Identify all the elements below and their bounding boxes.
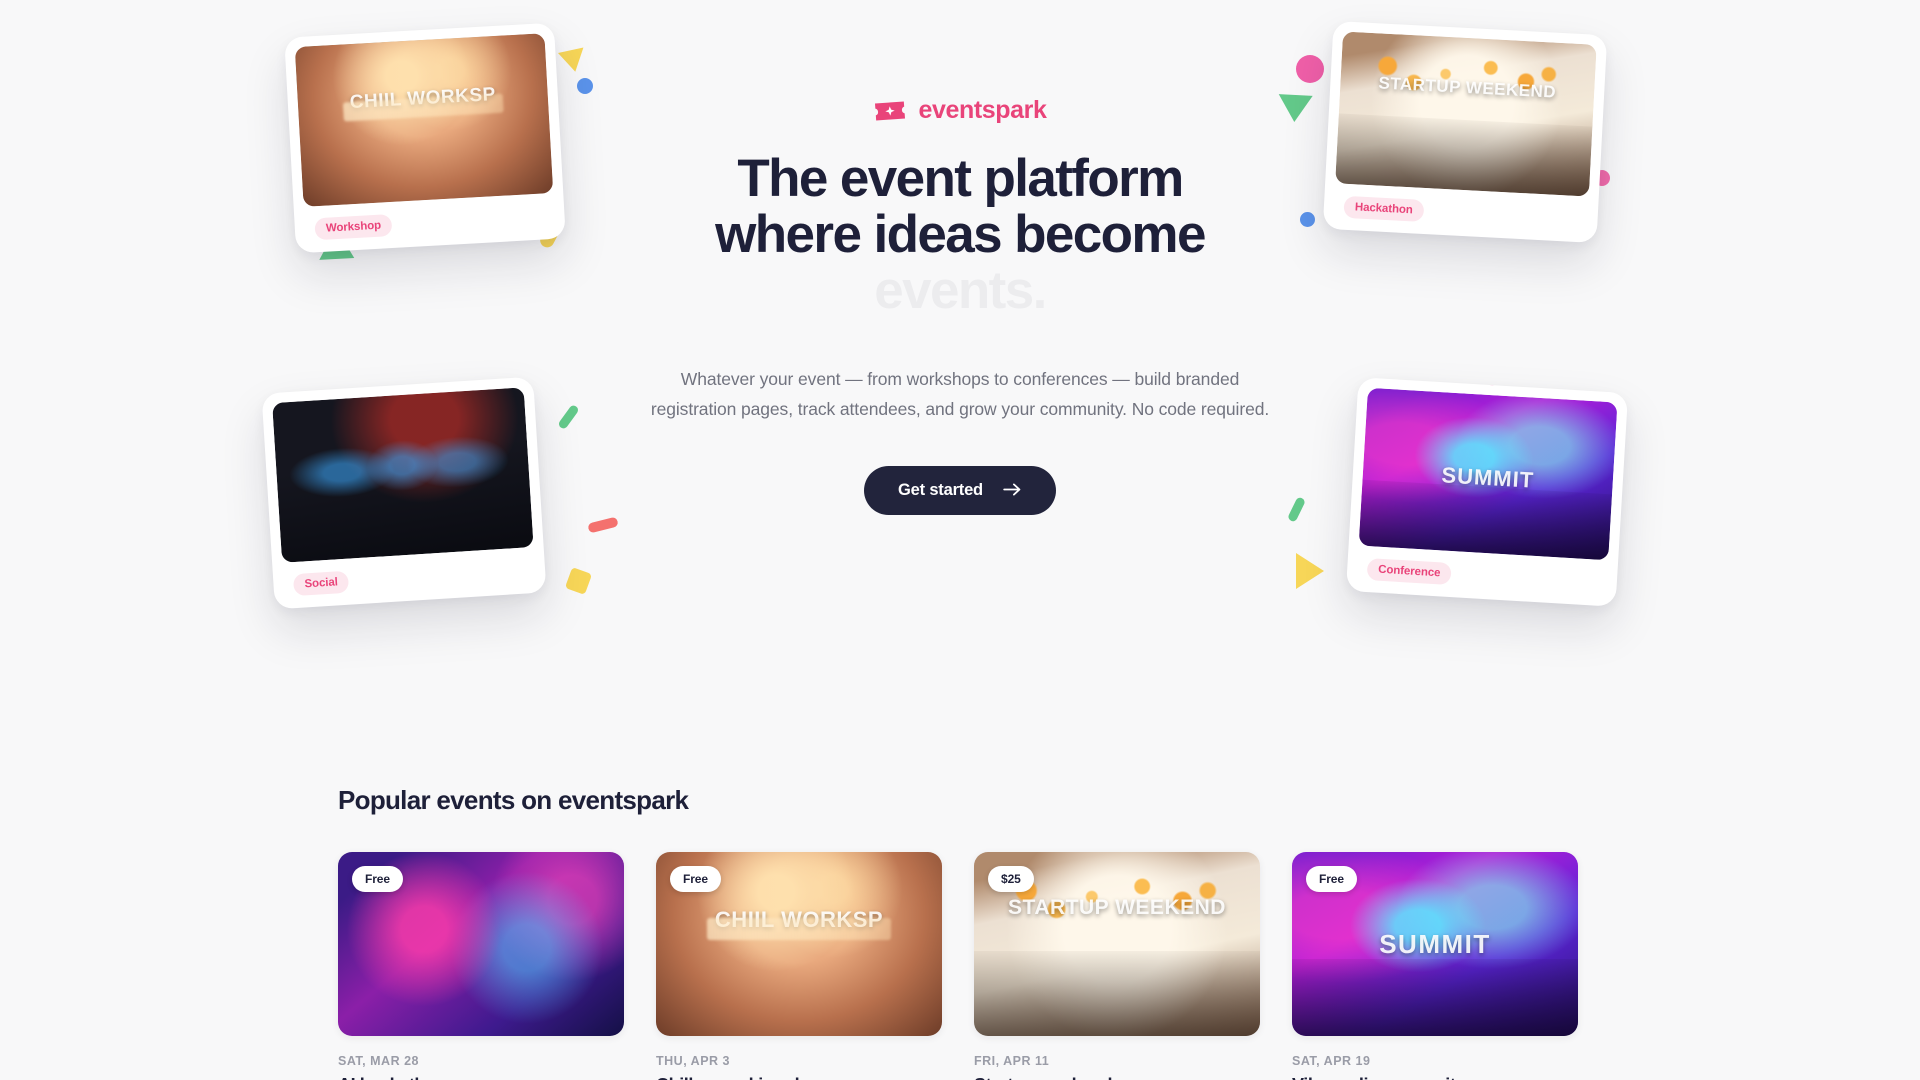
headline-line-2: where ideas become <box>715 205 1205 264</box>
photo-word: STARTUP WEEKEND <box>974 896 1260 920</box>
event-card[interactable]: Free SAT, MAR 28 AI hackathon <box>338 852 624 1080</box>
photo-word-conference: SUMMIT <box>1362 457 1613 498</box>
event-title: AI hackathon <box>338 1075 624 1080</box>
tag-social: Social <box>293 571 350 596</box>
tag-conference: Conference <box>1367 558 1452 585</box>
confetti-circle-blue <box>577 78 593 94</box>
confetti-triangle-yellow-2 <box>1296 553 1324 589</box>
event-title: Startup weekend <box>974 1075 1260 1080</box>
photo-word-hackathon: STARTUP WEEKEND <box>1340 71 1595 103</box>
event-title: Chill coworking day <box>656 1075 942 1080</box>
chill-workspace-photo: CHIIL WORKSP <box>295 33 554 207</box>
price-badge: $25 <box>988 866 1034 892</box>
confetti-bar-coral <box>587 517 619 534</box>
price-badge: Free <box>670 866 721 892</box>
event-card-list: Free SAT, MAR 28 AI hackathon Free CHIIL… <box>338 852 1582 1080</box>
event-date: SAT, MAR 28 <box>338 1054 624 1068</box>
landing-page: CHIIL WORKSP Workshop STARTUP WEEKEND Ha… <box>0 0 1920 1080</box>
chill-workspace-photo: Free CHIIL WORKSP <box>656 852 942 1036</box>
floating-card-social[interactable]: Social <box>261 377 546 610</box>
price-badge: Free <box>352 866 403 892</box>
get-started-label: Get started <box>898 481 983 500</box>
event-card[interactable]: Free CHIIL WORKSP THU, APR 3 Chill cowor… <box>656 852 942 1080</box>
popular-events-section: Popular events on eventspark Free SAT, M… <box>0 720 1920 1080</box>
floating-card-hackathon[interactable]: STARTUP WEEKEND Hackathon <box>1323 21 1608 243</box>
event-card[interactable]: Free SUMMIT SAT, APR 19 Vibe coding summ… <box>1292 852 1578 1080</box>
floating-card-conference[interactable]: SUMMIT Conference <box>1346 377 1628 607</box>
neon-summit-stage-photo: SUMMIT <box>1359 388 1618 561</box>
page-title: The event platform where ideas become ev… <box>640 151 1280 319</box>
confetti-bar-yellow-2 <box>565 567 592 595</box>
headline-line-1: The event platform <box>737 149 1182 208</box>
event-title: Vibe coding summit <box>1292 1075 1578 1080</box>
event-date: THU, APR 3 <box>656 1054 942 1068</box>
section-title: Popular events on eventspark <box>338 785 1582 816</box>
brand-name: eventspark <box>918 96 1046 125</box>
startup-weekend-photo: $25 STARTUP WEEKEND <box>974 852 1260 1036</box>
event-card[interactable]: $25 STARTUP WEEKEND FRI, APR 11 Startup … <box>974 852 1260 1080</box>
event-date: SAT, APR 19 <box>1292 1054 1578 1068</box>
confetti-triangle-green-2 <box>1277 94 1312 123</box>
arrow-right-icon <box>1003 482 1022 499</box>
floating-card-workshop[interactable]: CHIIL WORKSP Workshop <box>284 23 566 254</box>
ai-network-photo: Free <box>338 852 624 1036</box>
get-started-button[interactable]: Get started <box>864 466 1056 515</box>
hero-content: eventspark The event platform where idea… <box>640 96 1280 515</box>
neon-lan-room-photo <box>272 387 534 563</box>
confetti-triangle-yellow <box>558 48 588 75</box>
neon-summit-stage-photo: Free SUMMIT <box>1292 852 1578 1036</box>
event-date: FRI, APR 11 <box>974 1054 1260 1068</box>
photo-word: SUMMIT <box>1292 929 1578 960</box>
photo-word: CHIIL WORKSP <box>656 907 942 933</box>
confetti-bar-green-2 <box>1287 496 1306 522</box>
headline-line-3-ghost: events. <box>640 263 1280 319</box>
confetti-circle-blue-2 <box>1300 212 1315 227</box>
startup-weekend-photo: STARTUP WEEKEND <box>1335 31 1597 196</box>
tag-workshop: Workshop <box>314 214 392 240</box>
cta-row: Get started <box>640 466 1280 515</box>
price-badge: Free <box>1306 866 1357 892</box>
hero-section: CHIIL WORKSP Workshop STARTUP WEEKEND Ha… <box>0 0 1920 720</box>
photo-word-social <box>276 451 528 467</box>
ticket-icon <box>873 99 907 123</box>
tag-hackathon: Hackathon <box>1343 196 1424 222</box>
hero-subcopy: Whatever your event — from workshops to … <box>640 364 1280 424</box>
photo-word-workshop: CHIIL WORKSP <box>297 81 548 117</box>
brand-logo[interactable]: eventspark <box>640 96 1280 125</box>
confetti-circle-magenta <box>1296 55 1324 83</box>
confetti-bar-green <box>557 404 580 430</box>
